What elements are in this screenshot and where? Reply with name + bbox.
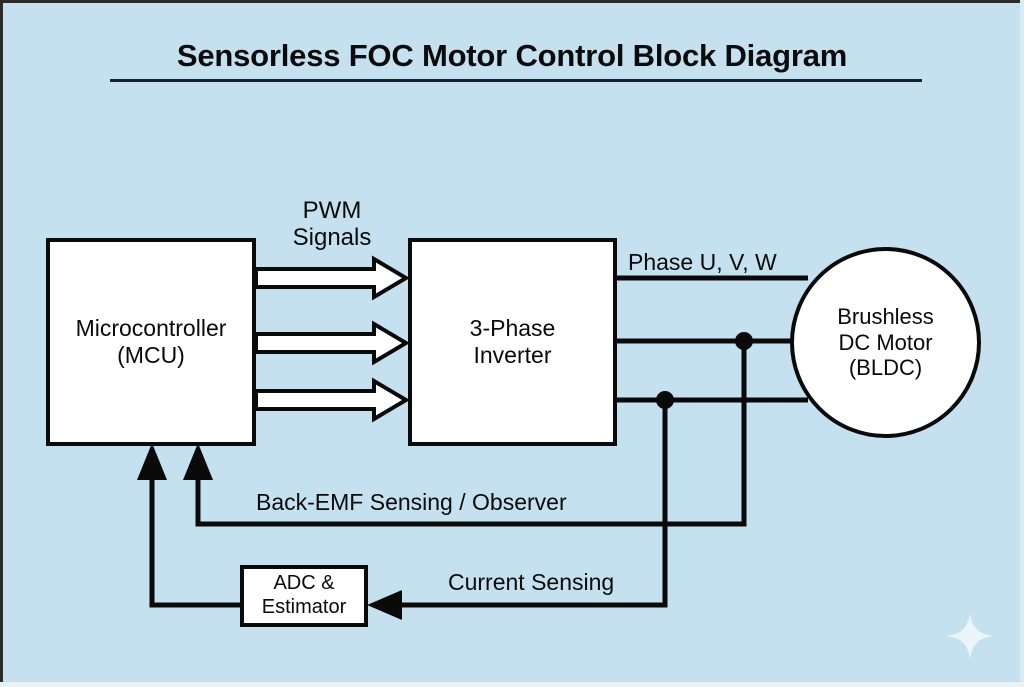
pwm-arrow-2	[256, 324, 406, 362]
block-adc-line1: ADC &	[273, 572, 334, 596]
junction-dot-phase-w	[656, 391, 674, 409]
canvas-border-bottom	[0, 682, 1024, 687]
block-adc-estimator[interactable]: ADC & Estimator	[240, 565, 368, 627]
block-diagram-canvas: Sensorless FOC Motor Control Block Diagr…	[0, 0, 1024, 687]
block-microcontroller-line2: (MCU)	[117, 342, 185, 369]
junction-dot-phase-v	[735, 332, 753, 350]
pwm-arrow-3	[256, 381, 406, 419]
title-underline	[110, 79, 922, 82]
block-adc-line2: Estimator	[262, 596, 346, 620]
label-current-sensing: Current Sensing	[448, 570, 614, 596]
canvas-border-top	[0, 0, 1024, 3]
pwm-arrow-1	[256, 259, 406, 297]
diagram-title: Sensorless FOC Motor Control Block Diagr…	[0, 38, 1024, 74]
canvas-border-right	[1020, 0, 1024, 687]
block-inverter-line1: 3-Phase	[470, 315, 556, 342]
canvas-border-left	[0, 0, 3, 687]
current-sensing-arrowhead	[367, 590, 402, 620]
block-inverter-line2: Inverter	[474, 342, 552, 369]
block-motor-line1: Brushless	[837, 304, 934, 330]
block-three-phase-inverter[interactable]: 3-Phase Inverter	[408, 238, 617, 446]
sparkle-icon	[945, 611, 995, 661]
label-back-emf-sensing: Back-EMF Sensing / Observer	[256, 490, 567, 516]
block-microcontroller[interactable]: Microcontroller (MCU)	[46, 238, 256, 446]
block-microcontroller-line1: Microcontroller	[76, 315, 227, 342]
label-pwm-line1: PWM	[276, 198, 388, 225]
block-bldc-motor[interactable]: Brushless DC Motor (BLDC)	[790, 247, 981, 438]
label-pwm-line2: Signals	[276, 225, 388, 252]
adc-to-mcu-arrowhead	[137, 443, 167, 480]
adc-to-mcu-path	[152, 470, 240, 605]
label-phase-uvw: Phase U, V, W	[628, 250, 777, 276]
block-motor-line3: (BLDC)	[849, 355, 922, 381]
block-motor-line2: DC Motor	[838, 330, 932, 356]
label-pwm-signals: PWM Signals	[276, 198, 388, 252]
back-emf-arrowhead	[183, 443, 213, 480]
